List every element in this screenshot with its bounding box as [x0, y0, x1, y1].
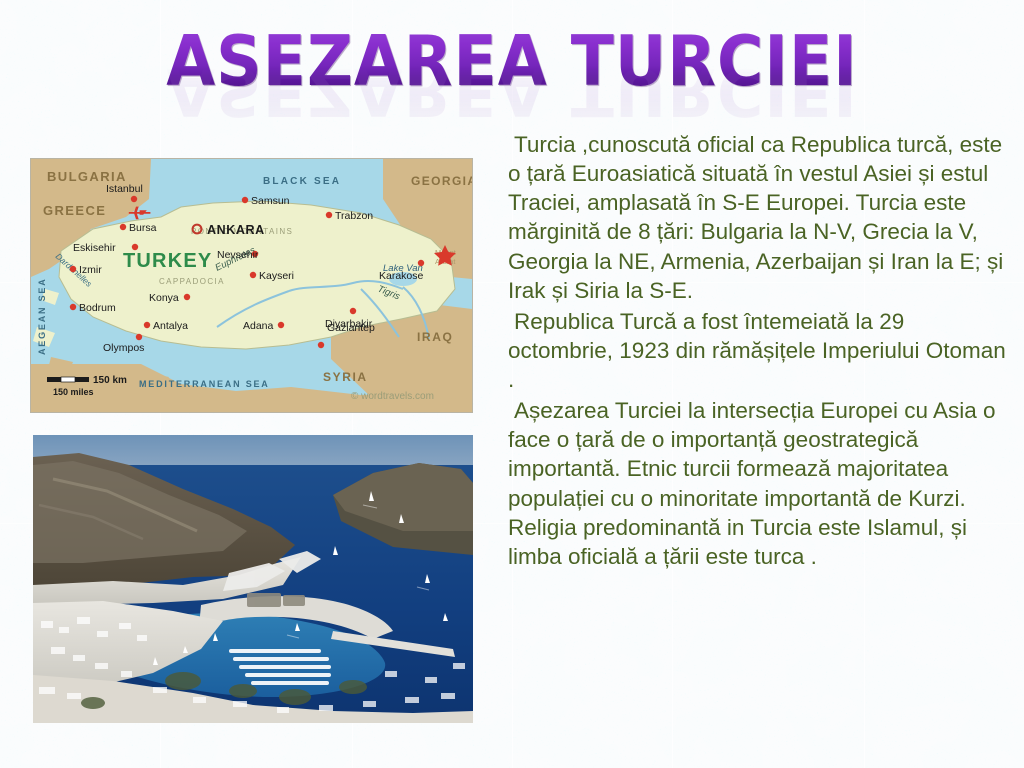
map-of-turkey-image: BLACK SEA BULGARIA GREECE GEORGIA IRAQ S… — [30, 158, 473, 413]
svg-text:GREECE: GREECE — [43, 203, 106, 218]
svg-text:IRAQ: IRAQ — [417, 330, 453, 344]
svg-text:SYRIA: SYRIA — [323, 370, 368, 384]
svg-text:Bodrum: Bodrum — [79, 302, 116, 314]
svg-text:Karakose: Karakose — [379, 270, 424, 282]
svg-text:Olympos: Olympos — [103, 342, 144, 354]
svg-text:BLACK SEA: BLACK SEA — [263, 176, 341, 187]
paragraph-3: Așezarea Turciei la intersecția Europei … — [508, 396, 1008, 571]
paragraph-2: Republica Turcă a fost întemeiată la 29 … — [508, 307, 1008, 394]
svg-text:Bursa: Bursa — [129, 222, 157, 234]
svg-text:Kayseri: Kayseri — [259, 270, 294, 282]
svg-text:ANKARA: ANKARA — [207, 223, 265, 237]
svg-text:BULGARIA: BULGARIA — [47, 169, 127, 184]
bodrum-coast-photo — [33, 435, 473, 723]
body-text-column: Turcia ,cunoscută oficial ca Republica t… — [508, 130, 1008, 573]
svg-text:Izmir: Izmir — [79, 264, 102, 276]
svg-text:Adana: Adana — [243, 320, 274, 332]
svg-text:TURKEY: TURKEY — [123, 250, 212, 272]
svg-text:Eskisehir: Eskisehir — [73, 242, 116, 254]
paragraph-1: Turcia ,cunoscută oficial ca Republica t… — [508, 130, 1008, 305]
svg-text:CAPPADOCIA: CAPPADOCIA — [159, 277, 225, 286]
svg-text:Trabzon: Trabzon — [335, 210, 373, 222]
svg-text:MEDITERRANEAN SEA: MEDITERRANEAN SEA — [139, 379, 270, 389]
svg-text:Diyarbakir: Diyarbakir — [325, 318, 373, 330]
svg-text:GEORGIA: GEORGIA — [411, 174, 472, 188]
svg-text:Samsun: Samsun — [251, 195, 290, 207]
slide-canvas: ASEZAREA TURCIEI ASEZAREA TURCIEI — [0, 0, 1024, 768]
svg-text:Antalya: Antalya — [153, 320, 188, 332]
svg-text:Istanbul: Istanbul — [106, 183, 143, 195]
svg-text:150 miles: 150 miles — [53, 387, 94, 397]
svg-text:Nevsehir: Nevsehir — [217, 249, 259, 261]
svg-text:AEGEAN SEA: AEGEAN SEA — [37, 277, 47, 355]
svg-text:Konya: Konya — [149, 292, 179, 304]
svg-text:© wordtravels.com: © wordtravels.com — [351, 391, 434, 402]
svg-text:150 km: 150 km — [93, 375, 127, 386]
